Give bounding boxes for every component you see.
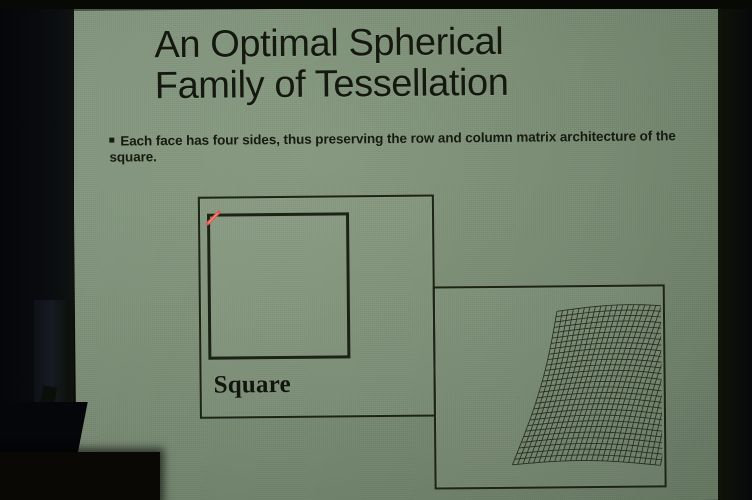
slide-title-line-1: An Optimal Spherical [154, 21, 503, 66]
curved-quadrilateral-mesh-figure [433, 284, 663, 485]
square-shape [207, 212, 350, 359]
projection-screen-slide: An Optimal Spherical Family of Tessellat… [72, 0, 729, 500]
bullet-text: Each face has four sides, thus preservin… [109, 128, 675, 164]
bullet-square-icon [109, 138, 114, 143]
slide-title: An Optimal Spherical Family of Tessellat… [154, 20, 675, 107]
slide-title-line-2: Family of Tessellation [155, 61, 675, 107]
mesh-lines [511, 304, 663, 467]
left-figure-caption: Square [214, 371, 291, 400]
photo-scene: An Optimal Spherical Family of Tessellat… [0, 0, 752, 500]
foreground-table-silhouette [0, 452, 160, 500]
dark-right-margin [718, 0, 752, 500]
slide-content: An Optimal Spherical Family of Tessellat… [72, 0, 729, 500]
mesh-grid-svg [433, 284, 663, 485]
bullet-list-item: Each face has four sides, thus preservin… [109, 128, 709, 166]
dark-top-margin [0, 0, 752, 9]
